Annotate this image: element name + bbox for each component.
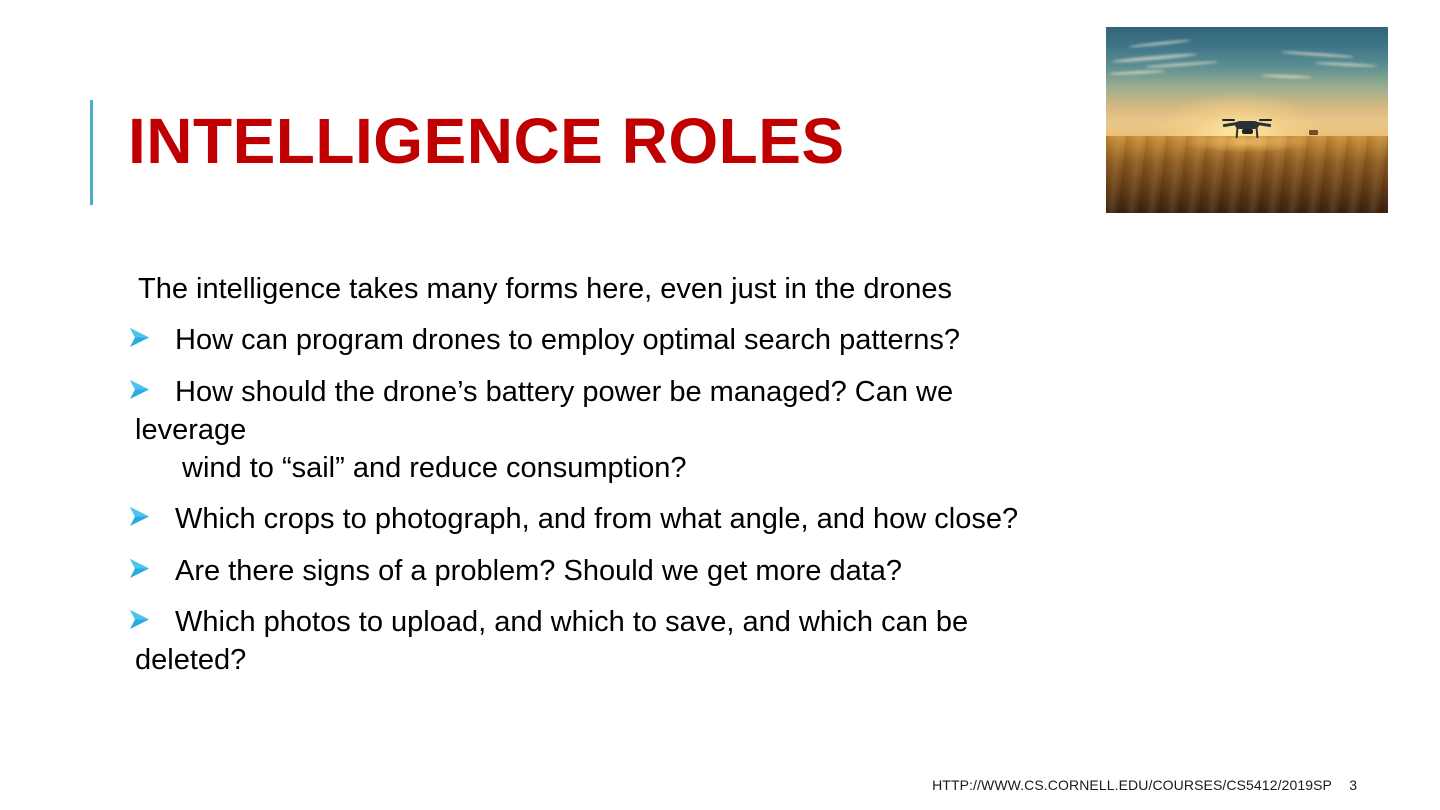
drone-photo xyxy=(1106,27,1388,213)
drone-leg-left xyxy=(1235,128,1238,138)
arrowhead-bullet-icon xyxy=(128,558,154,580)
list-item-label: Are there signs of a problem? Should we … xyxy=(175,552,1388,590)
list-item-continuation-line: wind to “sail” and reduce consumption? xyxy=(135,449,1388,487)
drone-silhouette-icon xyxy=(1222,111,1273,141)
list-item-label: Which crops to photograph, and from what… xyxy=(175,500,1388,538)
drone-leg-right xyxy=(1256,128,1259,138)
list-item-label: How should the drone’s battery power be … xyxy=(175,373,1388,411)
slide-body: The intelligence takes many forms here, … xyxy=(128,270,1388,692)
list-item-wrap-line: deleted? xyxy=(135,641,1388,679)
list-item-label: Which photos to upload, and which to sav… xyxy=(175,603,1388,641)
photo-distant-vehicle xyxy=(1309,130,1318,135)
page-title: INTELLIGENCE ROLES xyxy=(128,103,1088,179)
drone-rotor-left xyxy=(1222,119,1235,121)
arrowhead-bullet-icon xyxy=(128,609,154,631)
drone-rotor-right xyxy=(1259,119,1272,121)
title-accent-bar xyxy=(90,100,93,205)
list-item-label: How can program drones to employ optimal… xyxy=(175,321,1388,359)
list-item-wrap-line: leverage xyxy=(135,411,1388,449)
cloud xyxy=(1145,61,1218,69)
slide-number: 3 xyxy=(1349,777,1357,793)
cloud xyxy=(1261,74,1312,79)
cloud xyxy=(1281,51,1354,59)
intro-paragraph: The intelligence takes many forms here, … xyxy=(128,270,1388,308)
arrowhead-bullet-icon xyxy=(128,379,154,401)
list-item: Which crops to photograph, and from what… xyxy=(128,500,1388,538)
drone-camera-gimbal xyxy=(1242,129,1253,135)
list-item: Are there signs of a problem? Should we … xyxy=(128,552,1388,590)
footer-url-text: HTTP://WWW.CS.CORNELL.EDU/COURSES/CS5412… xyxy=(932,777,1332,793)
arrowhead-bullet-icon xyxy=(128,327,154,349)
cloud xyxy=(1315,62,1377,68)
list-item: Which photos to upload, and which to sav… xyxy=(128,603,1388,680)
cloud xyxy=(1109,69,1165,75)
list-item: How should the drone’s battery power be … xyxy=(128,373,1388,488)
cloud xyxy=(1129,39,1191,48)
cloud xyxy=(1112,52,1197,63)
list-item: How can program drones to employ optimal… xyxy=(128,321,1388,359)
arrowhead-bullet-icon xyxy=(128,506,154,528)
slide-canvas: INTELLIGENCE ROLES The intelligence take… xyxy=(0,0,1440,810)
slide-footer: HTTP://WWW.CS.CORNELL.EDU/COURSES/CS5412… xyxy=(0,773,1440,793)
